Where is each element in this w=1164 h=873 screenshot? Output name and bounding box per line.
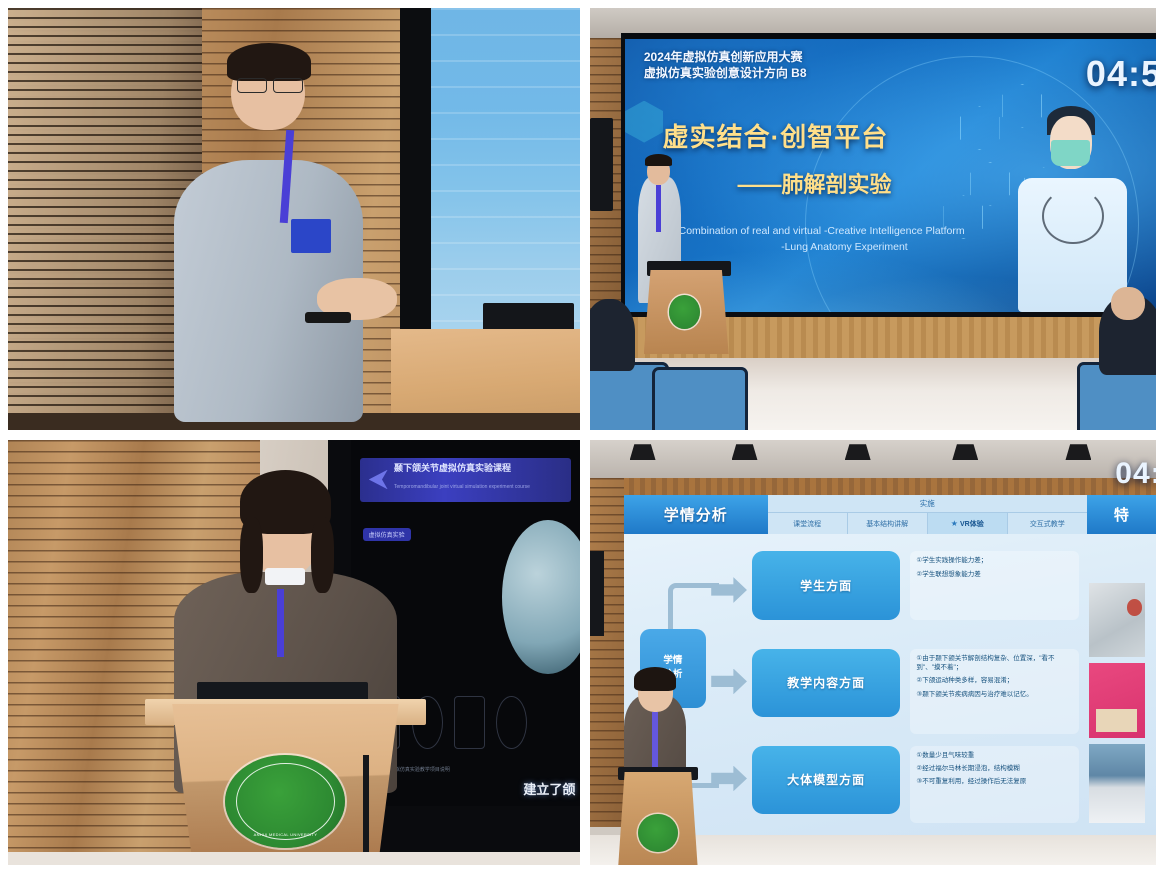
presenter-hair [645,154,672,167]
stethoscope-icon [1042,188,1104,245]
presenter-lanyard [656,185,661,231]
hair [634,667,676,690]
countdown-timer: 04: [1115,457,1156,491]
category-box-gross-model: 大体模型方面 [752,746,900,815]
target-icon [496,696,527,749]
audience-member [590,299,635,371]
screen-big-text: 建立了颌 [523,779,575,798]
screen-title-bar: 颞下颌关节虚拟仿真实验课程 Temporomandibular joint vi… [360,458,570,502]
collar [265,568,305,585]
tab-label: 交互式教学 [1030,519,1065,529]
glasses-left-lens [237,78,268,94]
bullet-list-teaching-content: ①由于颞下颌关节解剖结构复杂、位置深，"看不到"、"摸不着"； ②下颌运动种类多… [910,649,1079,735]
panel-bottom-left: 颞下颌关节虚拟仿真实验课程 Temporomandibular joint vi… [8,440,580,865]
hair-strand-right [311,517,334,594]
microphone-cable [363,755,370,866]
university-emblem [669,295,700,329]
bullet-item: ③颞下颌关节疾病病因与治疗难以记忆。 [916,690,1073,699]
star-icon: ★ [951,519,958,528]
audience-head [1111,287,1145,321]
bullet-item: ③不可重复利用，经过操作后无法复原 [916,777,1073,786]
slide-main-title: 虚实结合·创智平台 [663,117,889,154]
bullet-item: ②经过福尔马林长期浸泡，结构模糊 [916,764,1073,773]
slide-title: 学情分析 [624,495,768,534]
hair-strand-left [240,517,263,594]
emblem-text: ANHUI MEDICAL UNIVERSITY [225,832,345,837]
presenter-clicker [305,312,351,323]
globe-graphic [502,520,580,674]
slide-english-text: Combination of real and virtual -Creativ… [679,223,1011,256]
wall-speaker [590,551,604,636]
screen-chip-label: 虚拟仿真实验 [363,528,411,541]
emblem-ring [236,763,335,840]
tab-basic-structure[interactable]: 基本结构讲解 [848,513,928,535]
tab-label: VR体验 [960,519,984,529]
analysis-flow-diagram: 学情 分析 学生方面 教学内容方面 大体模型方面 ①学生实践操作能力差； ②学生… [635,543,1146,829]
hair [227,43,312,81]
floor [8,852,580,865]
university-emblem: ANHUI MEDICAL UNIVERSITY [225,755,345,849]
slide-header-line1: 2024年虚拟仿真创新应用大赛 [644,50,807,66]
photo-collage: 2024年虚拟仿真创新应用大赛 虚拟仿真实验创意设计方向 B8 虚实结合·创智平… [0,0,1164,873]
projected-slide: 学情分析 实施 课堂流程 基本结构讲解 ★ VR体验 [624,495,1156,835]
screen-slide-title: 颞下颌关节虚拟仿真实验课程 [394,461,511,474]
play-icon [369,470,388,490]
glasses-right-lens [273,78,304,94]
wall-dark-gap [400,8,431,337]
tab-label: 基本结构讲解 [866,519,908,529]
seat [652,367,748,430]
doctor-face-mask [1051,140,1090,166]
slide-right-label: 特 [1087,495,1156,534]
panel-bottom-right: 学情分析 实施 课堂流程 基本结构讲解 ★ VR体验 [590,440,1156,865]
slide-header: 2024年虚拟仿真创新应用大赛 虚拟仿真实验创意设计方向 B8 [644,50,807,82]
projection-screen [431,8,580,337]
bullet-list-students: ①学生实践操作能力差； ②学生联想想象能力差 [910,551,1079,620]
countdown-timer: 04:5 [1086,53,1156,95]
badge [291,219,331,253]
bullet-list-gross-model: ①数量少且气味较重 ②经过福尔马林长期浸泡，结构模糊 ③不可重复利用，经过操作后… [910,746,1079,823]
category-box-teaching-content: 教学内容方面 [752,649,900,718]
category-box-students: 学生方面 [752,551,900,620]
slide-top-bar: 学情分析 实施 课堂流程 基本结构讲解 ★ VR体验 [624,495,1156,534]
tab-interactive-teaching[interactable]: 交互式教学 [1008,513,1087,535]
slide-tab-group: 实施 课堂流程 基本结构讲解 ★ VR体验 交互式教学 [768,495,1087,534]
slide-header-line2: 虚拟仿真实验创意设计方向 B8 [644,66,807,82]
ruler-icon [454,696,485,749]
laboratory-photo-image [1089,744,1145,823]
anatomy-diagram-image [1089,583,1145,657]
side-image-column [1089,583,1145,823]
slide-english-line2: -Lung Anatomy Experiment [679,239,1011,255]
lanyard-strap [652,712,658,767]
panel-top-left [8,8,580,430]
slide-subtitle: ——肺解剖实验 [737,167,891,199]
tab-classroom-process[interactable]: 课堂流程 [768,513,848,535]
wall-speaker [590,118,613,211]
university-emblem [638,814,678,852]
bullet-item: ①由于颞下颌关节解剖结构复杂、位置深，"看不到"、"摸不着"； [916,654,1073,673]
bullet-item: ①数量少且气味较重 [916,751,1073,760]
bullet-item: ②学生联想想象能力差 [916,570,1073,579]
doctor-illustration [989,73,1149,313]
cartoon-illustration-image [1089,663,1145,737]
lanyard-strap [277,589,284,657]
screen-slide-subtitle: Temporomandibular joint virtual simulati… [394,484,530,490]
slide-english-line1: Combination of real and virtual -Creativ… [679,225,965,237]
bullet-item: ②下颌运动种类多样，容易混淆； [916,676,1073,685]
root-node-line1: 学情 [663,654,682,668]
tab-vr-experience[interactable]: ★ VR体验 [928,513,1008,535]
panel-top-right: 2024年虚拟仿真创新应用大赛 虚拟仿真实验创意设计方向 B8 虚实结合·创智平… [590,8,1156,430]
tab-label: 课堂流程 [793,519,821,529]
hex-lung-icon [625,101,663,143]
tab-list: 课堂流程 基本结构讲解 ★ VR体验 交互式教学 [768,513,1087,535]
tab-group-label: 实施 [768,495,1087,512]
bullet-item: ①学生实践操作能力差； [916,556,1073,565]
